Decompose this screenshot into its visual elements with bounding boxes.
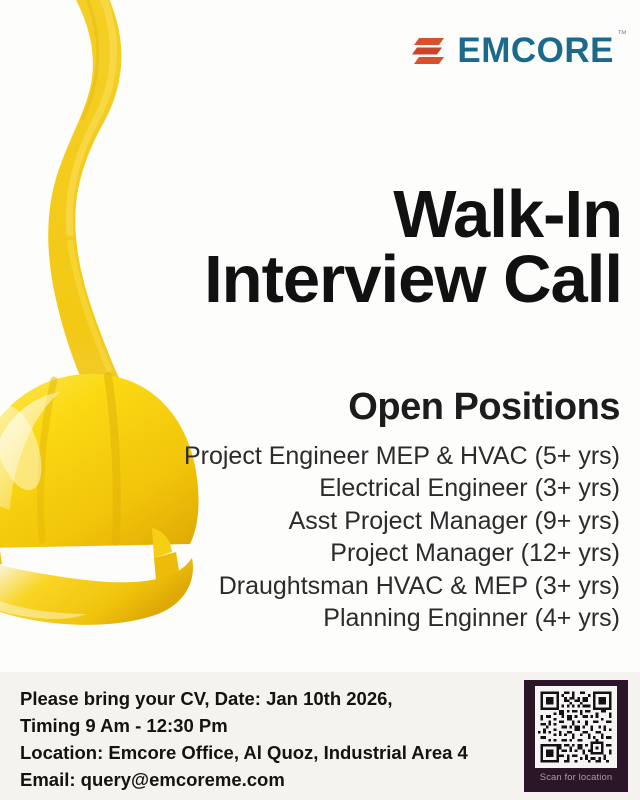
- footer-band: Please bring your CV, Date: Jan 10th 202…: [0, 672, 640, 800]
- footer-line-location: Location: Emcore Office, Al Quoz, Indust…: [20, 739, 500, 766]
- list-item: Asst Project Manager (9+ yrs): [20, 505, 620, 538]
- open-positions-title: Open Positions: [20, 388, 620, 428]
- list-item: Planning Enginner (4+ yrs): [20, 602, 620, 635]
- trademark-symbol: ™: [617, 30, 627, 40]
- headline-line-1: Walk-In: [12, 182, 622, 247]
- qr-caption: Scan for location: [540, 773, 612, 783]
- list-item: Project Manager (12+ yrs): [20, 537, 620, 570]
- footer-line-email: Email: query@emcoreme.com: [20, 766, 500, 793]
- emcore-bars-icon: [412, 36, 446, 66]
- emcore-logo: EMCORE ™: [412, 33, 614, 68]
- open-positions-section: Open Positions Project Engineer MEP & HV…: [20, 388, 620, 635]
- headline-line-2: Interview Call: [12, 247, 622, 312]
- emcore-wordmark: EMCORE ™: [457, 33, 614, 68]
- emcore-wordmark-text: EMCORE: [457, 31, 614, 70]
- qr-code-icon[interactable]: [535, 686, 617, 768]
- list-item: Electrical Engineer (3+ yrs): [20, 472, 620, 505]
- recruitment-poster: EMCORE ™ Walk-In Interview Call Open Pos…: [0, 0, 640, 800]
- footer-line-timing: Timing 9 Am - 12:30 Pm: [20, 712, 500, 739]
- footer-details: Please bring your CV, Date: Jan 10th 202…: [20, 685, 500, 793]
- list-item: Project Engineer MEP & HVAC (5+ yrs): [20, 440, 620, 473]
- qr-panel[interactable]: Scan for location: [524, 680, 628, 792]
- footer-line-date: Please bring your CV, Date: Jan 10th 202…: [20, 685, 500, 712]
- list-item: Draughtsman HVAC & MEP (3+ yrs): [20, 570, 620, 603]
- page-title: Walk-In Interview Call: [12, 182, 622, 312]
